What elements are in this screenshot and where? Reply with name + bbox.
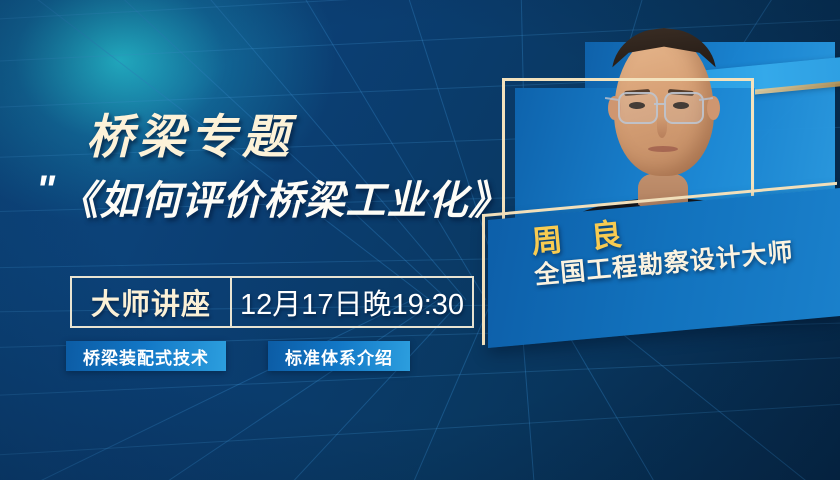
topic-tag-list: 桥梁装配式技术 标准体系介绍 xyxy=(66,341,410,371)
lecture-poster: 桥梁专题 " 《如何评价桥梁工业化》 " 大师讲座 12月17日晚19:30 桥… xyxy=(0,0,840,480)
speaker-composition: 周 良 全国工程勘察设计大师 xyxy=(470,0,840,480)
subtitle: 《如何评价桥梁工业化》 xyxy=(56,168,511,226)
lecture-datetime-label: 12月17日晚19:30 xyxy=(240,281,464,323)
lecture-type-label: 大师讲座 xyxy=(91,281,211,323)
quote-open-icon: " xyxy=(36,170,52,210)
lecture-info-bar: 大师讲座 12月17日晚19:30 xyxy=(70,276,474,328)
lecture-type-cell: 大师讲座 xyxy=(72,278,232,326)
page-title: 桥梁专题 xyxy=(86,98,294,167)
left-content-column: 桥梁专题 " 《如何评价桥梁工业化》 " 大师讲座 12月17日晚19:30 桥… xyxy=(0,0,520,480)
lecture-datetime-cell: 12月17日晚19:30 xyxy=(232,278,472,326)
topic-tag-2: 标准体系介绍 xyxy=(268,341,410,371)
topic-tag-1: 桥梁装配式技术 xyxy=(66,341,226,371)
subtitle-row: " 《如何评价桥梁工业化》 " xyxy=(36,168,532,226)
